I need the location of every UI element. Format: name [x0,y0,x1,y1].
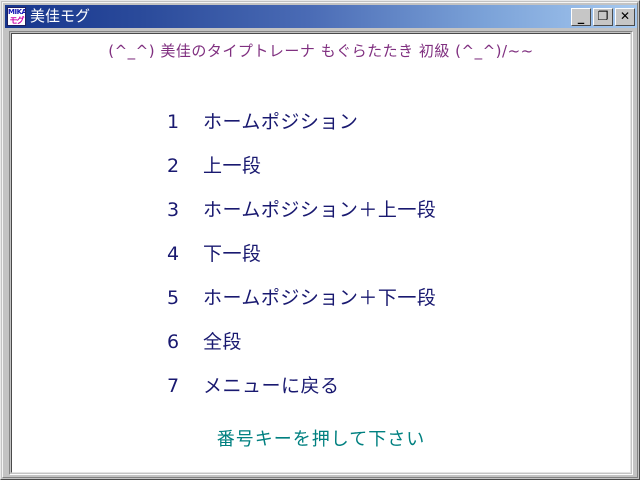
menu-item-1-number: 1 [167,100,203,144]
program-subtitle: (^_^) 美佳のタイプトレーナ もぐらたたき 初級 (^_^)/~~ [12,42,630,60]
menu-item-4-number: 4 [167,232,203,276]
close-icon: ✕ [616,11,634,22]
application-window: MIKA モグ 美佳モグ _ ❐ ✕ (^_^) 美佳のタイプトレーナ もぐらた… [0,0,640,480]
app-icon-bottom-text: モグ [8,16,25,25]
menu-item-2-number: 2 [167,144,203,188]
minimize-icon: _ [572,12,590,23]
menu-item-1[interactable]: 1 ホームポジション [167,100,567,144]
menu-item-2[interactable]: 2 上一段 [167,144,567,188]
menu-item-3-label: ホームポジション＋上一段 [203,188,567,232]
mika-mogu-app-icon[interactable]: MIKA モグ [7,7,26,26]
menu-item-7-label: メニューに戻る [203,364,567,408]
input-prompt: 番号キーを押して下さい [12,429,630,451]
close-button[interactable]: ✕ [615,8,635,26]
minimize-button[interactable]: _ [571,8,591,26]
menu-item-6-label: 全段 [203,320,567,364]
maximize-icon: ❐ [594,11,612,22]
menu-item-6[interactable]: 6 全段 [167,320,567,364]
client-area: (^_^) 美佳のタイプトレーナ もぐらたたき 初級 (^_^)/~~ 1 ホー… [11,33,631,473]
menu-item-2-label: 上一段 [203,144,567,188]
client-area-frame: (^_^) 美佳のタイプトレーナ もぐらたたき 初級 (^_^)/~~ 1 ホー… [9,31,633,475]
menu-item-4[interactable]: 4 下一段 [167,232,567,276]
window-title: 美佳モグ [30,7,571,26]
menu-item-5-number: 5 [167,276,203,320]
menu-item-7-number: 7 [167,364,203,408]
menu-item-5-label: ホームポジション＋下一段 [203,276,567,320]
menu-item-4-label: 下一段 [203,232,567,276]
menu-item-1-label: ホームポジション [203,100,567,144]
title-bar[interactable]: MIKA モグ 美佳モグ _ ❐ ✕ [5,5,637,28]
menu-item-5[interactable]: 5 ホームポジション＋下一段 [167,276,567,320]
app-icon-top-text: MIKA [8,8,25,16]
window-controls: _ ❐ ✕ [571,8,635,26]
menu-item-7[interactable]: 7 メニューに戻る [167,364,567,408]
maximize-button[interactable]: ❐ [593,8,613,26]
window-inner-frame: MIKA モグ 美佳モグ _ ❐ ✕ (^_^) 美佳のタイプトレーナ もぐらた… [2,2,638,478]
level-menu-list: 1 ホームポジション 2 上一段 3 ホームポジション＋上一段 4 下一段 [167,100,567,408]
menu-item-3-number: 3 [167,188,203,232]
menu-item-3[interactable]: 3 ホームポジション＋上一段 [167,188,567,232]
menu-item-6-number: 6 [167,320,203,364]
